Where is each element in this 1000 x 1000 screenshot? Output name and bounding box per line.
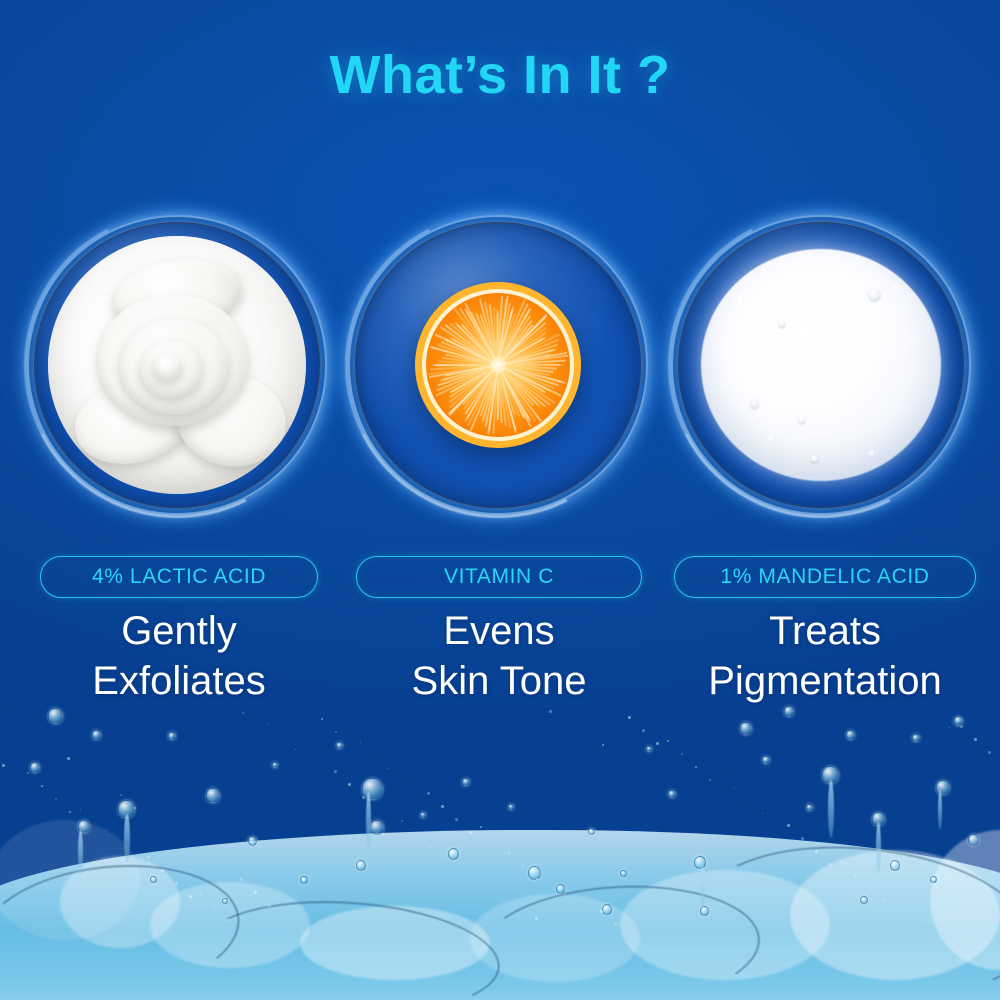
water-droplet — [370, 820, 384, 835]
water-spray-speck — [907, 908, 908, 909]
powder-grain-texture — [695, 243, 947, 487]
caption-line-1: Evens — [349, 606, 649, 656]
orange-flesh — [426, 293, 570, 437]
water-spray-speck — [549, 710, 552, 713]
water-spray-speck — [815, 850, 818, 853]
water-spray-speck — [240, 878, 243, 881]
water-spray-speck — [960, 725, 963, 728]
water-droplet — [92, 730, 101, 740]
water-spray-speck — [309, 762, 310, 763]
water-spray-speck — [348, 783, 351, 786]
water-spray-speck — [388, 768, 389, 769]
water-spray-speck — [201, 854, 202, 855]
powder-content — [701, 249, 941, 481]
water-spray-speck — [374, 755, 375, 756]
water-droplet-tail — [78, 830, 83, 874]
water-droplet — [272, 762, 278, 768]
water-spray-speck — [94, 822, 95, 823]
water-droplet — [700, 906, 709, 916]
water-spray-speck — [189, 895, 192, 898]
water-spray-speck — [720, 774, 721, 775]
water-droplet — [462, 778, 470, 786]
water-droplet — [968, 834, 979, 846]
powder-crystal — [869, 289, 880, 300]
water-spray-speck — [949, 727, 950, 728]
water-spray-speck — [307, 925, 309, 927]
ingredient-pill-row: 4% LACTIC ACID VITAMIN C 1% MANDELIC ACI… — [0, 556, 1000, 598]
water-spray-speck — [561, 889, 562, 890]
water-spray-speck — [974, 738, 977, 741]
water-spray-speck — [602, 744, 604, 746]
water-spray-speck — [321, 718, 323, 720]
water-spray-speck — [0, 710, 1, 711]
water-spray-speck — [829, 863, 832, 866]
water-spray-speck — [2, 764, 5, 767]
water-spray-speck — [67, 757, 70, 760]
water-spray-speck — [575, 902, 576, 903]
water-spray-speck — [480, 826, 482, 828]
water-spray-speck — [55, 798, 57, 800]
water-droplet-tail — [938, 790, 942, 830]
water-spray-speck — [589, 915, 590, 916]
water-droplet — [168, 732, 176, 740]
water-droplet — [48, 708, 63, 724]
ingredient-dish-vitamin-c — [333, 200, 663, 530]
water-spray-speck — [27, 772, 29, 774]
water-spray-speck — [122, 848, 123, 849]
water-spray-speck — [242, 712, 244, 714]
water-spray-speck — [882, 900, 884, 902]
water-spray-speck — [267, 723, 268, 724]
water-spray-speck — [295, 749, 296, 750]
water-droplet — [694, 856, 706, 869]
water-droplet — [784, 706, 794, 717]
water-spray-speck — [734, 787, 735, 788]
water-spray-speck — [468, 867, 469, 868]
powder-crystal — [799, 417, 805, 423]
water-spray-speck — [415, 833, 417, 835]
water-spray-speck — [80, 809, 81, 810]
cream-content — [48, 236, 306, 494]
water-spray-speck — [281, 736, 282, 737]
water-spray-speck — [642, 729, 645, 732]
water-spray-speck — [695, 766, 697, 768]
water-spray-speck — [628, 716, 631, 719]
water-spray-speck — [482, 880, 483, 881]
water-spray-speck — [600, 910, 603, 913]
water-spray-speck — [656, 742, 659, 745]
water-droplet — [740, 722, 752, 735]
water-droplet — [30, 762, 40, 773]
water-spray-speck — [120, 794, 122, 796]
water-splash — [0, 670, 1000, 1000]
water-spray-speck — [748, 800, 749, 801]
water-spray-speck — [935, 714, 936, 715]
water-spray-speck — [147, 856, 150, 859]
ingredient-dish-mandelic-acid — [656, 200, 986, 530]
water-spray-speck — [508, 852, 510, 854]
pill-label: 1% MANDELIC ACID — [720, 565, 929, 589]
water-droplet — [762, 756, 770, 764]
water-droplet — [448, 848, 459, 860]
water-spray-speck — [228, 919, 230, 921]
water-spray-speck — [494, 839, 496, 841]
powder-crystal — [811, 455, 818, 462]
water-droplet — [846, 730, 855, 740]
water-spray-speck — [401, 820, 403, 822]
ingredient-image-row — [0, 200, 1000, 530]
water-droplet — [890, 860, 900, 871]
water-droplet — [336, 742, 343, 749]
pill-vitamin-c[interactable]: VITAMIN C — [356, 556, 642, 598]
water-droplet — [356, 860, 366, 871]
water-spray-speck — [200, 893, 202, 895]
water-droplet — [912, 734, 920, 742]
water-spray-speck — [681, 753, 683, 755]
water-spray-speck — [268, 904, 271, 907]
water-spray-speck — [669, 794, 670, 795]
water-spray-speck — [441, 805, 444, 808]
water-droplet-tail — [124, 814, 130, 862]
water-spray-speck — [614, 923, 617, 926]
water-spray-speck — [134, 807, 136, 809]
water-spray-speck — [175, 882, 178, 885]
water-spray-speck — [254, 891, 257, 894]
water-spray-speck — [787, 824, 790, 827]
water-spray-speck — [360, 742, 361, 743]
water-droplet — [528, 866, 541, 880]
water-spray-speck — [535, 917, 538, 920]
water-spray-speck — [709, 779, 711, 781]
ingredients-poster: What’s In It ? — [0, 0, 1000, 1000]
glass-petri-dish — [33, 221, 321, 509]
water-spray-speck — [41, 785, 43, 787]
water-droplet — [248, 836, 257, 846]
water-spray-speck — [429, 846, 431, 848]
water-droplet — [206, 788, 220, 803]
water-droplet-tail — [700, 866, 705, 906]
water-droplet — [362, 778, 383, 800]
orange-slice — [415, 282, 581, 448]
water-spray-speck — [988, 751, 991, 754]
water-droplet-tail — [828, 780, 834, 838]
caption-line-1: Gently — [29, 606, 329, 656]
pill-lactic-acid[interactable]: 4% LACTIC ACID — [40, 556, 318, 598]
powder-crystal — [779, 321, 785, 327]
water-spray-speck — [469, 831, 472, 834]
water-spray-speck — [667, 740, 669, 742]
water-droplet — [806, 804, 813, 811]
water-spray-speck — [108, 835, 109, 836]
glass-petri-dish — [354, 221, 642, 509]
water-spray-speck — [854, 874, 856, 876]
water-spray-speck — [214, 906, 216, 908]
water-spray-speck — [762, 813, 763, 814]
water-droplet-tail — [876, 822, 881, 872]
caption-line-1: Treats — [660, 606, 990, 656]
page-title: What’s In It ? — [0, 44, 1000, 106]
pill-label: VITAMIN C — [444, 565, 554, 589]
water-spray-speck — [536, 878, 538, 880]
water-spray-speck — [921, 921, 922, 922]
water-droplet — [602, 904, 612, 915]
water-spray-speck — [522, 865, 524, 867]
water-spray-speck — [868, 887, 870, 889]
water-spray-speck — [334, 770, 337, 773]
pill-mandelic-acid[interactable]: 1% MANDELIC ACID — [674, 556, 976, 598]
water-spray-speck — [402, 781, 403, 782]
orange-core — [490, 357, 506, 373]
water-spray-speck — [69, 811, 71, 813]
water-spray-speck — [547, 876, 548, 877]
water-spray-speck — [840, 861, 842, 863]
water-spray-speck — [801, 837, 804, 840]
water-spray-speck — [335, 731, 337, 733]
water-spray-speck — [187, 841, 188, 842]
water-spray-speck — [362, 796, 365, 799]
cream-swirl-peak — [152, 354, 182, 380]
ingredient-dish-lactic-acid — [12, 200, 342, 530]
water-spray-speck — [161, 869, 164, 872]
powder-crystal — [751, 399, 758, 408]
water-spray-speck — [427, 792, 430, 795]
water-droplet — [646, 746, 652, 752]
water-droplet — [420, 812, 426, 818]
pill-label: 4% LACTIC ACID — [92, 565, 266, 589]
water-droplet — [508, 804, 514, 810]
water-spray-speck — [455, 818, 458, 821]
glass-petri-dish — [677, 221, 965, 509]
water-droplet-tail — [366, 792, 371, 848]
